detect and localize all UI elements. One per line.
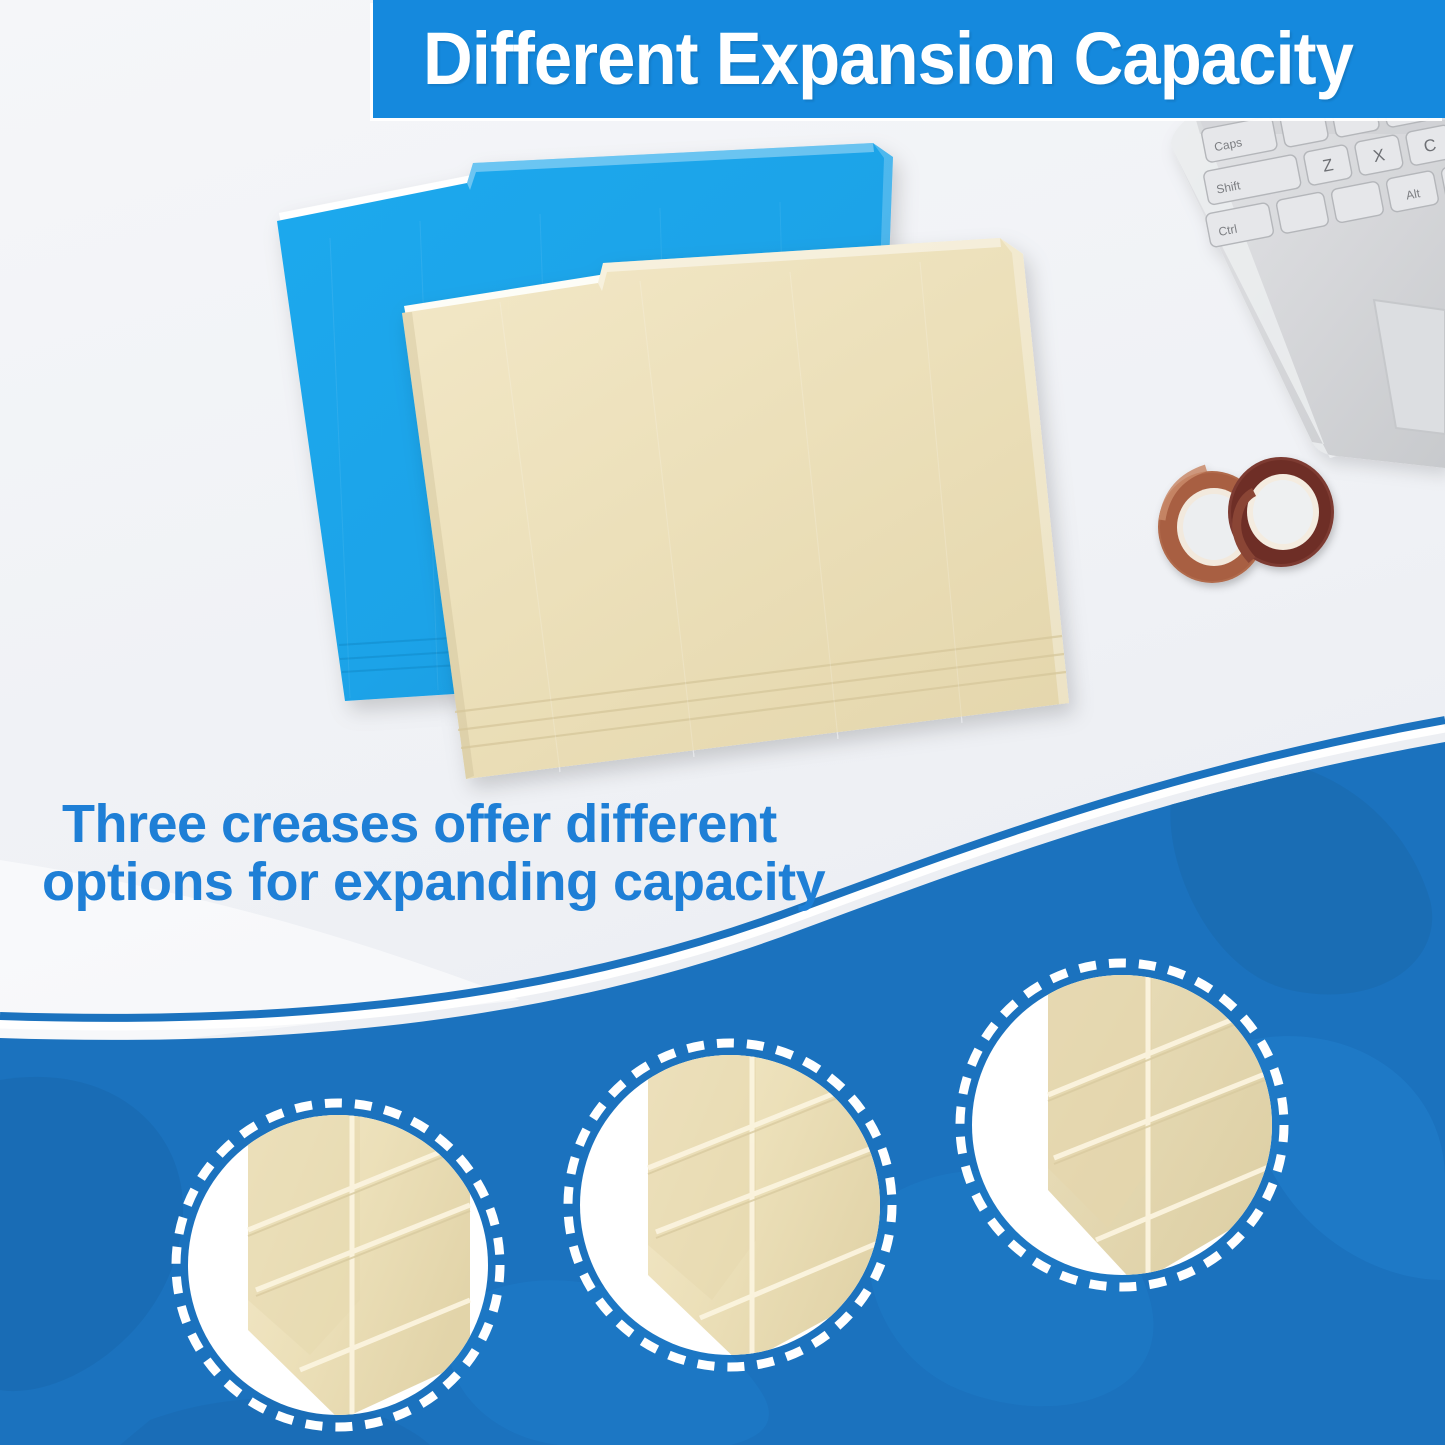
- product-marketing-image: Caps Shift Ctrl Z X C Alt: [0, 0, 1445, 1445]
- headline-line-1: Three creases offer different: [40, 795, 940, 853]
- bottom-blue-panel: [0, 0, 1445, 1445]
- headline-text: Three creases offer different options fo…: [40, 795, 940, 912]
- header-banner: Different Expansion Capacity: [373, 0, 1445, 118]
- headline-line-2: options for expanding capacity: [40, 853, 940, 911]
- page-title: Different Expansion Capacity: [423, 22, 1353, 96]
